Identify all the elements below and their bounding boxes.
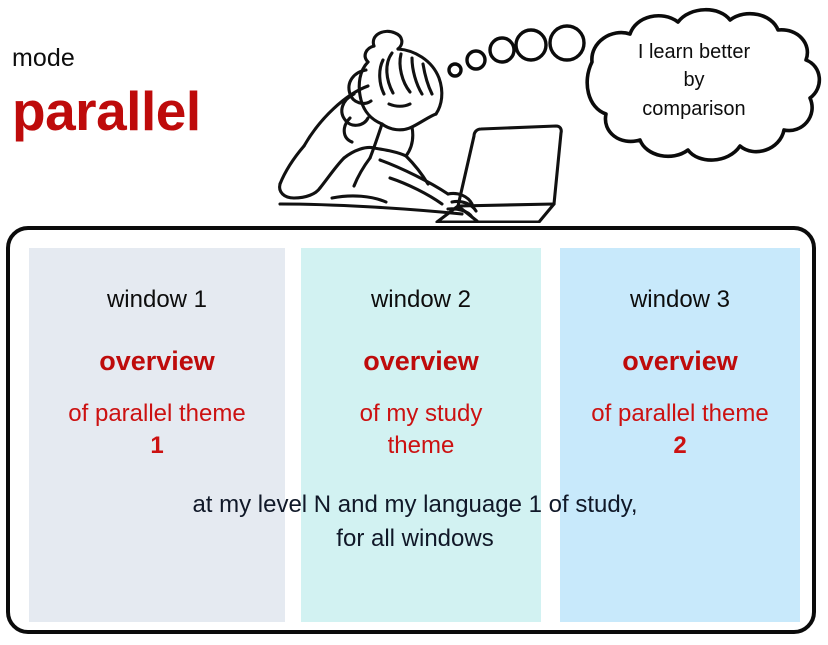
window-1-overview-label: overview — [29, 348, 285, 375]
thought-bubble-line-3: comparison — [584, 95, 804, 123]
window-2-theme-line: of my study — [301, 398, 541, 430]
windows-panel-row: window 1 overview of parallel theme 1 wi… — [10, 230, 820, 630]
header-area: mode parallel — [0, 0, 828, 226]
window-panel-1[interactable]: window 1 overview of parallel theme 1 — [29, 248, 285, 622]
window-panel-2[interactable]: window 2 overview of my study theme — [301, 248, 541, 622]
window-1-theme-number: 1 — [29, 430, 285, 462]
window-panel-3[interactable]: window 3 overview of parallel theme 2 — [560, 248, 800, 622]
thought-bubble-line-1: I learn better — [584, 38, 804, 66]
window-1-theme-line: of parallel theme — [29, 398, 285, 430]
mode-label: mode — [12, 46, 75, 71]
window-3-heading: window 3 — [560, 288, 800, 312]
window-3-theme-line: of parallel theme — [560, 398, 800, 430]
window-3-theme: of parallel theme 2 — [560, 398, 800, 463]
window-2-heading: window 2 — [301, 288, 541, 312]
window-2-theme-number: theme — [301, 430, 541, 462]
window-3-overview-label: overview — [560, 348, 800, 375]
window-1-theme: of parallel theme 1 — [29, 398, 285, 463]
thought-bubble-line-2: by — [584, 66, 804, 94]
windows-frame: window 1 overview of parallel theme 1 wi… — [6, 226, 816, 634]
thought-bubble-text: I learn better by comparison — [584, 38, 804, 123]
window-1-heading: window 1 — [29, 288, 285, 312]
window-2-theme: of my study theme — [301, 398, 541, 463]
window-2-overview-label: overview — [301, 348, 541, 375]
window-3-theme-number: 2 — [560, 430, 800, 462]
mode-title: parallel — [12, 84, 201, 139]
